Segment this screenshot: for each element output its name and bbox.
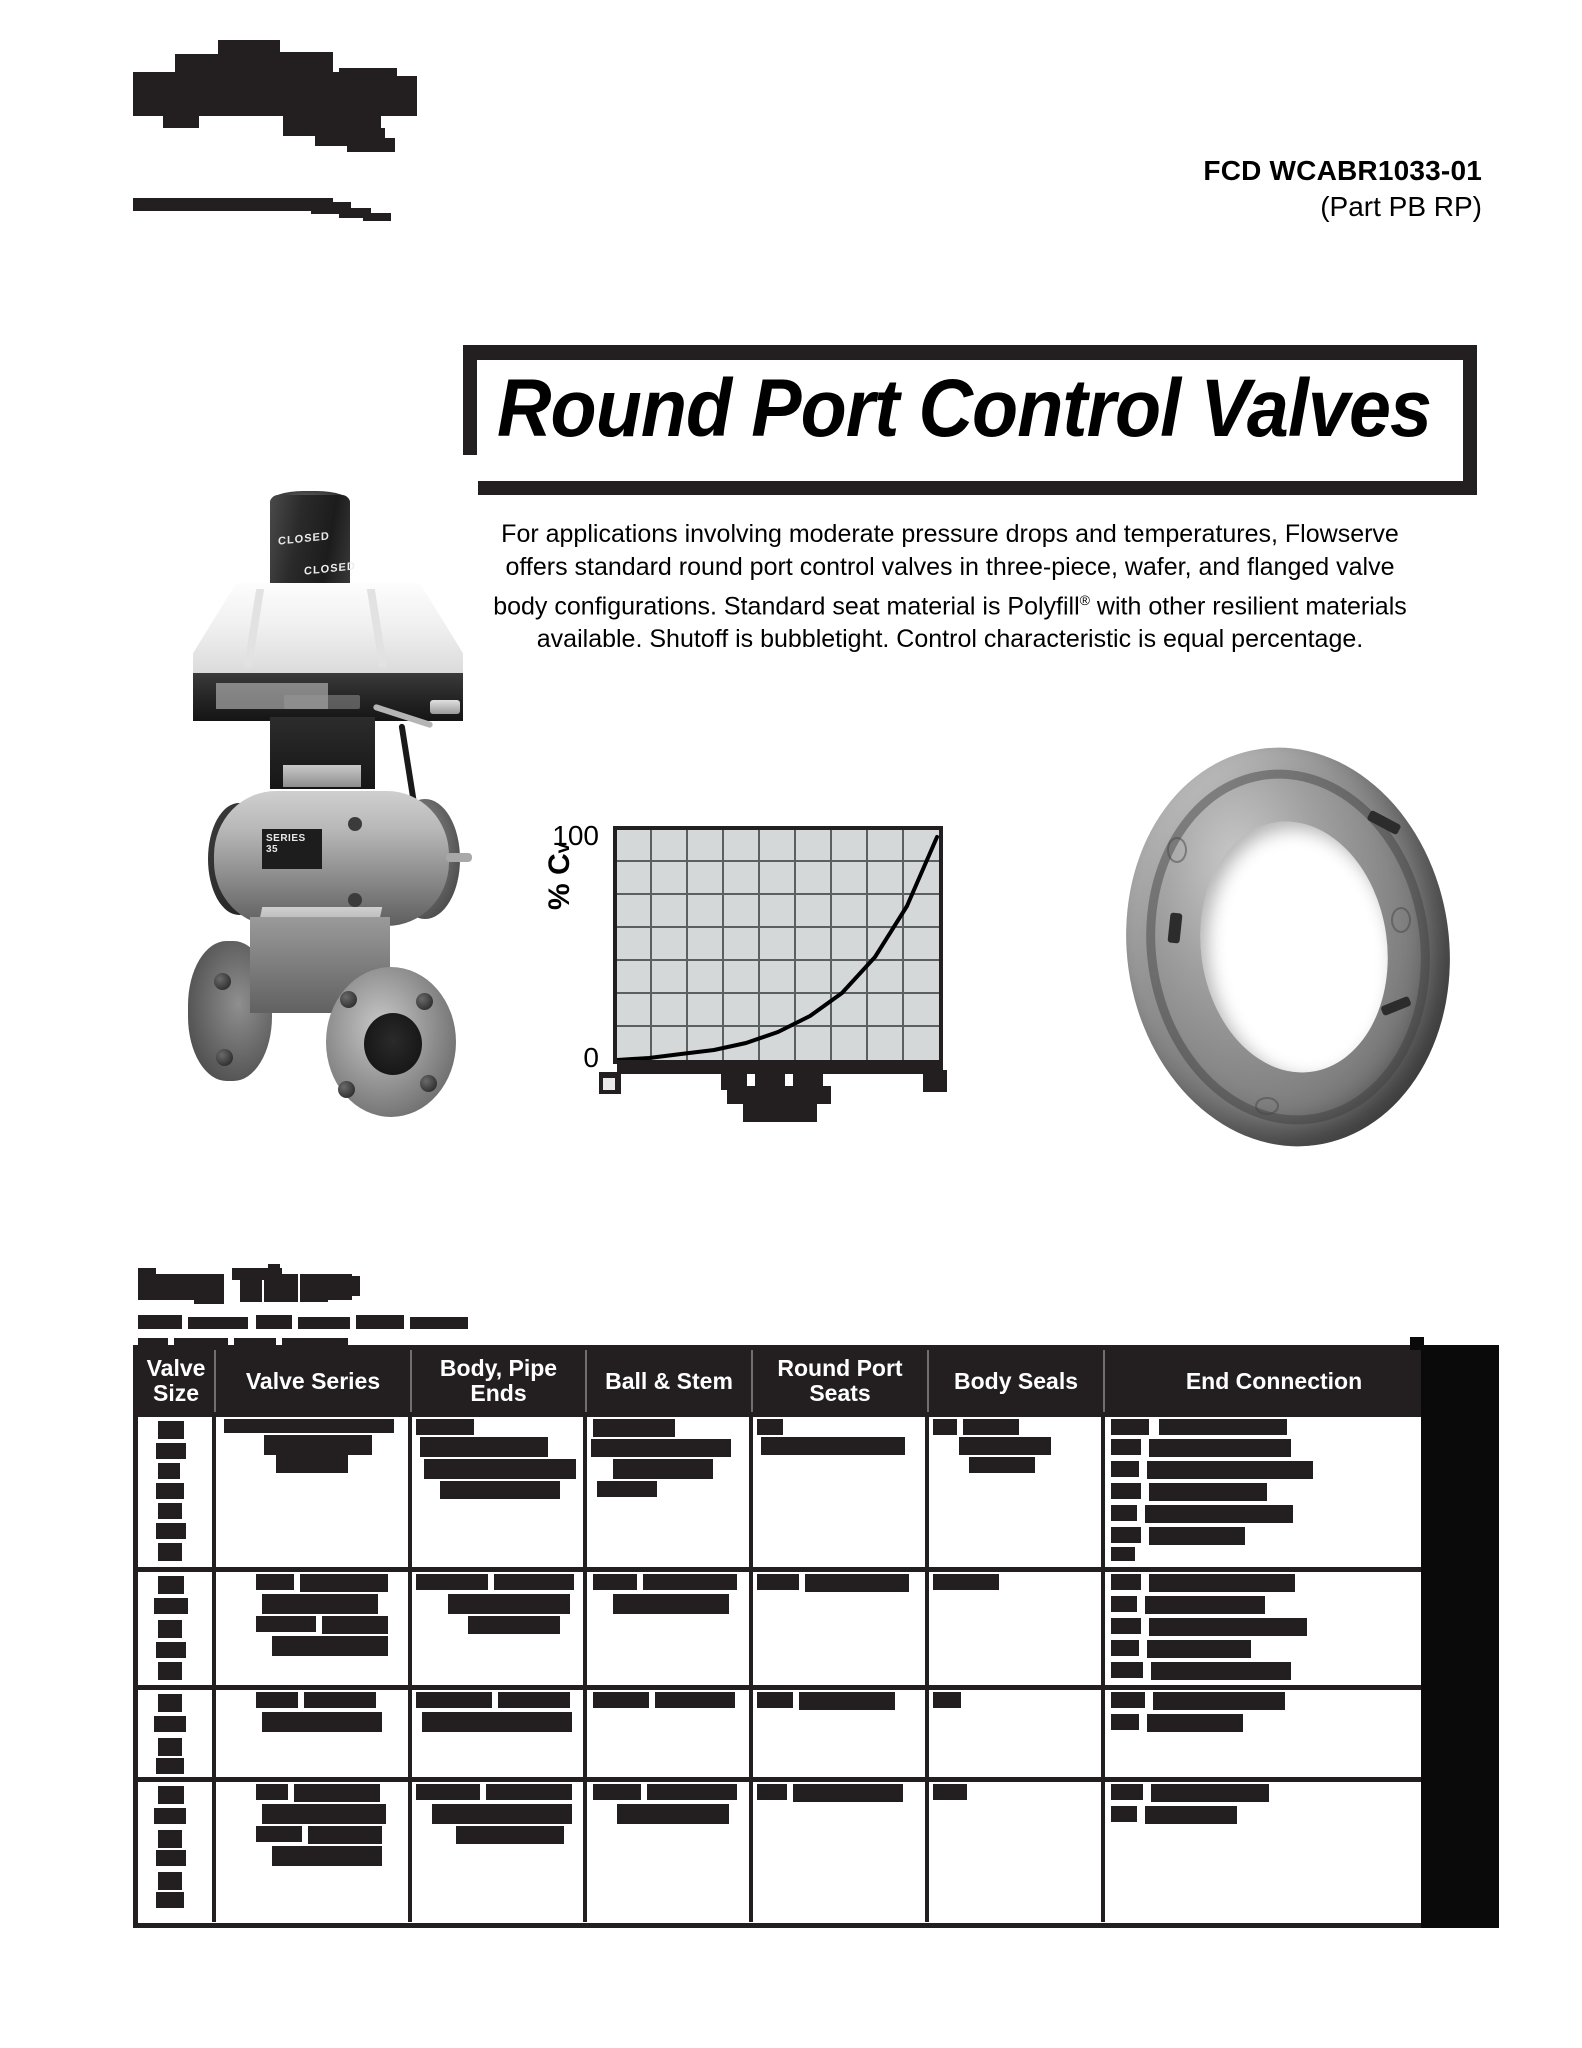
chart-x-axis-label-redacted xyxy=(721,1068,843,1124)
flange-bolt xyxy=(214,973,231,990)
limit-switch-enclosure xyxy=(193,583,463,678)
cell-body-seals xyxy=(929,1782,1105,1922)
document-part: (Part PB RP) xyxy=(1203,189,1482,224)
cell-end-connection xyxy=(1105,1782,1443,1922)
column-header-round-port-seats: Round Port Seats xyxy=(753,1350,929,1412)
page-header: FCD WCABR1033-01 (Part PB RP) xyxy=(0,0,1582,250)
logo-tagline-redacted xyxy=(133,198,398,220)
seat-ring-dimple xyxy=(1255,1097,1279,1115)
document-code-block: FCD WCABR1033-01 (Part PB RP) xyxy=(1203,155,1482,224)
cell-valve-series xyxy=(216,1572,412,1685)
table-right-black-panel xyxy=(1421,1345,1499,1928)
banner-right-edge xyxy=(1463,355,1477,495)
chart-y-tick-0: 0 xyxy=(531,1042,599,1074)
actuated-ball-valve-photo: CLOSED CLOSED SERIES 35 xyxy=(158,455,478,1180)
cell-round-port-seats xyxy=(753,1782,929,1922)
column-header-valve-series: Valve Series xyxy=(216,1350,412,1412)
intro-paragraph: For applications involving moderate pres… xyxy=(480,518,1420,656)
chart-x-tick-left-redacted xyxy=(599,1072,637,1096)
cell-ball-and-stem xyxy=(587,1782,753,1922)
cell-ball-and-stem xyxy=(587,1417,753,1567)
cell-body-pipe-ends xyxy=(412,1572,587,1685)
cv-characteristic-chart: % Cv 100 0 xyxy=(545,790,1045,1180)
column-header-ball-and-stem: Ball & Stem xyxy=(587,1350,753,1412)
how-to-order-table: Valve Size Valve Series Body, Pipe Ends … xyxy=(133,1345,1448,1928)
cell-ball-and-stem xyxy=(587,1690,753,1777)
cell-round-port-seats xyxy=(753,1572,929,1685)
actuator-bolt-top xyxy=(348,817,362,831)
chart-y-axis-label: % Cv xyxy=(543,843,577,910)
cell-valve-size xyxy=(138,1782,216,1922)
intro-line-3a: configurations. Standard seat material i… xyxy=(554,592,1079,620)
cell-valve-series xyxy=(216,1690,412,1777)
flange-bolt xyxy=(216,1049,233,1066)
cell-body-pipe-ends xyxy=(412,1782,587,1922)
flange-bolt xyxy=(420,1075,437,1092)
column-header-valve-size: Valve Size xyxy=(138,1350,216,1412)
cell-body-pipe-ends xyxy=(412,1417,587,1567)
round-port-seat-ring-photo xyxy=(1105,725,1470,1180)
cell-valve-size xyxy=(138,1417,216,1567)
chart-series-line xyxy=(617,830,939,1060)
banner-left-edge xyxy=(463,345,477,455)
pneumatic-actuator-cylinder xyxy=(214,791,449,926)
column-header-body-seals: Body Seals xyxy=(929,1350,1105,1412)
cell-body-seals xyxy=(929,1417,1105,1567)
cell-body-pipe-ends xyxy=(412,1690,587,1777)
column-header-end-connection: End Connection xyxy=(1105,1350,1443,1412)
chart-plot-area xyxy=(613,826,943,1064)
valve-bore xyxy=(364,1013,422,1075)
yoke-clamp xyxy=(283,765,361,787)
flange-bolt xyxy=(416,993,433,1010)
table-row xyxy=(138,1412,1443,1567)
actuator-bolt-bottom xyxy=(348,893,362,907)
table-header-row: Valve Size Valve Series Body, Pipe Ends … xyxy=(138,1350,1443,1412)
chart-x-tick-right-redacted xyxy=(923,1070,955,1096)
document-code: FCD WCABR1033-01 xyxy=(1203,155,1482,187)
actuator-series-label: SERIES 35 xyxy=(266,833,318,845)
cell-end-connection xyxy=(1105,1417,1443,1567)
how-to-order-subtitle-redacted xyxy=(138,1315,486,1337)
cell-body-seals xyxy=(929,1690,1105,1777)
cell-round-port-seats xyxy=(753,1417,929,1567)
page-title: Round Port Control Valves xyxy=(497,361,1380,456)
flange-bolt xyxy=(340,991,357,1008)
title-banner: Round Port Control Valves xyxy=(455,345,1477,495)
column-header-body-pipe-ends: Body, Pipe Ends xyxy=(412,1350,587,1412)
cell-body-seals xyxy=(929,1572,1105,1685)
actuator-air-port xyxy=(446,853,472,862)
enclosure-brandmark xyxy=(284,695,360,709)
cell-ball-and-stem xyxy=(587,1572,753,1685)
table-row xyxy=(138,1567,1443,1685)
intro-line-4: Shutoff is bubbletight. Control characte… xyxy=(649,625,1363,653)
cell-valve-series xyxy=(216,1417,412,1567)
cell-end-connection xyxy=(1105,1572,1443,1685)
flowserve-logo xyxy=(133,40,463,150)
cell-valve-size xyxy=(138,1690,216,1777)
how-to-order-heading xyxy=(138,1262,398,1302)
air-fitting xyxy=(430,700,460,714)
valve-photo-canvas: CLOSED CLOSED SERIES 35 xyxy=(158,455,478,1180)
cell-round-port-seats xyxy=(753,1690,929,1777)
banner-top-rule xyxy=(463,345,1477,360)
chart-y-tick-100: 100 xyxy=(531,820,599,852)
table-row xyxy=(138,1685,1443,1777)
flange-bolt xyxy=(338,1081,355,1098)
seat-ring-dimple xyxy=(1391,907,1411,933)
seat-ring-dimple xyxy=(1167,837,1187,863)
banner-bottom-rule xyxy=(455,481,1469,495)
cell-end-connection xyxy=(1105,1690,1443,1777)
registered-mark: ® xyxy=(1080,592,1090,608)
cell-valve-size xyxy=(138,1572,216,1685)
cell-valve-series xyxy=(216,1782,412,1922)
table-row xyxy=(138,1777,1443,1922)
